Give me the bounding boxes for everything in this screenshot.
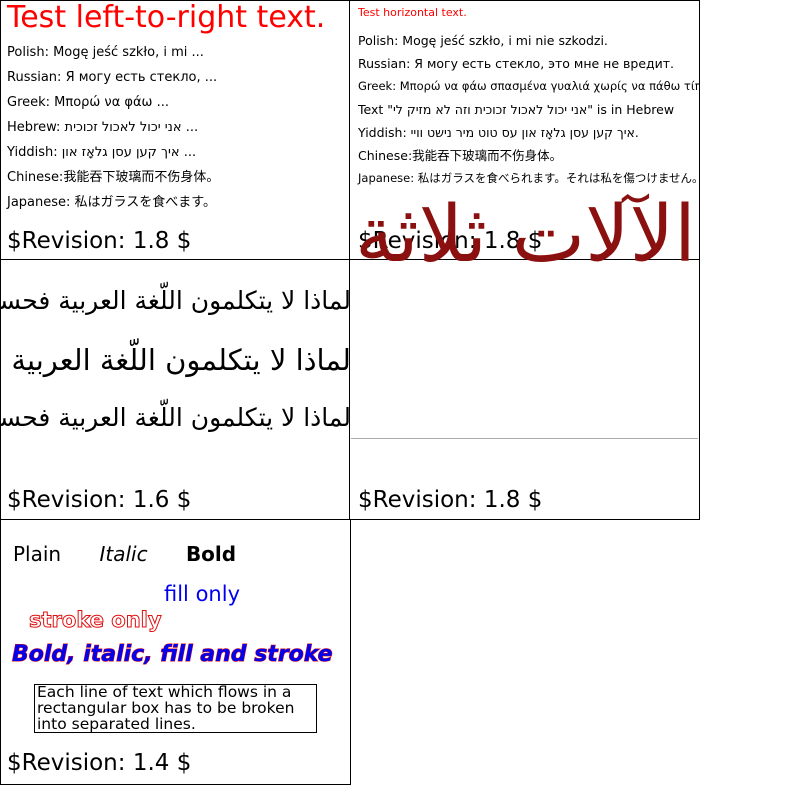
panel-text-styles-clip: Plain Italic Bold fill only stroke only … xyxy=(1,520,350,784)
style-italic-label: Italic xyxy=(99,542,147,566)
panel-left-to-right-text: Test left-to-right text. Polish: Mogę je… xyxy=(0,0,350,260)
horizontal-line-greek: Greek: Μπορώ να φάω σπασμένα γυαλιά χωρί… xyxy=(358,75,699,98)
style-bold-label: Bold xyxy=(186,542,236,566)
panel-text-styles: Plain Italic Bold fill only stroke only … xyxy=(0,519,351,785)
ltr-line-hebrew: Hebrew: ‏אני יכול לאכול זכוכית‎ ... xyxy=(7,115,219,140)
panel-left-to-right-clip: Test left-to-right text. Polish: Mogę je… xyxy=(1,1,349,259)
horizontal-line-hebrew: Text "‏אני יכול לאכול זכוכית וזה לא מזיק… xyxy=(358,98,699,121)
horizontal-line-russian: Russian: Я могу есть стекло, это мне не … xyxy=(358,52,699,75)
ltr-line-russian: Russian: Я могу есть стекло, ... xyxy=(7,65,219,90)
horizontal-title: Test horizontal text. xyxy=(358,7,467,18)
panel-arabic-clip: لماذا لا يتكلمون اللّغة العربية فحسب؟ لم… xyxy=(1,260,349,519)
baseline-rule xyxy=(351,438,698,439)
arabic-line-3: لماذا لا يتكلمون اللّغة العربية فحسب؟ xyxy=(1,403,349,432)
ltr-line-yiddish: Yiddish: ‏איך קען עסן גלאָז און‎ ... xyxy=(7,140,219,165)
panel-big-arabic-text: الآلات ثلاثة $Revision: 1.8 $ xyxy=(349,259,700,520)
arabic-revision: $Revision: 1.6 $ xyxy=(7,487,191,513)
horizontal-line-polish: Polish: Mogę jeść szkło, i mi nie szkodz… xyxy=(358,29,699,52)
flowed-text-content: Each line of text which flows in a recta… xyxy=(37,684,327,732)
ltr-line-polish: Polish: Mogę jeść szkło, i mi ... xyxy=(7,40,219,65)
ltr-language-list: Polish: Mogę jeść szkło, i mi ... Russia… xyxy=(7,40,219,215)
horizontal-line-chinese: Chinese:我能吞下玻璃而不伤身体。 xyxy=(358,144,699,167)
style-combined-label: Bold, italic, fill and stroke xyxy=(12,642,333,667)
style-plain-label: Plain xyxy=(13,542,61,566)
ltr-title: Test left-to-right text. xyxy=(7,3,325,33)
svg-text-test-page: Test left-to-right text. Polish: Mogę je… xyxy=(0,0,800,800)
style-fill-only-label: fill only xyxy=(164,582,240,606)
horizontal-line-yiddish: Yiddish: ‏איך קען עסן גלאָז און עס טוט מ… xyxy=(358,121,699,144)
ltr-revision: $Revision: 1.8 $ xyxy=(7,228,191,254)
horizontal-line-japanese: Japanese: 私はガラスを食べられます。それは私を傷つけません。 xyxy=(358,167,699,190)
panel-arabic-text: لماذا لا يتكلمون اللّغة العربية فحسب؟ لم… xyxy=(0,259,350,520)
arabic-line-1: لماذا لا يتكلمون اللّغة العربية فحسب؟ xyxy=(1,286,349,315)
style-row-plain-italic-bold: Plain Italic Bold xyxy=(13,542,236,566)
arabic-line-group: لماذا لا يتكلمون اللّغة العربية فحسب؟ لم… xyxy=(1,260,349,519)
big-arabic-revision: $Revision: 1.8 $ xyxy=(358,487,542,513)
big-arabic-text: الآلات ثلاثة xyxy=(350,194,701,454)
styles-revision: $Revision: 1.4 $ xyxy=(7,750,191,776)
ltr-line-greek: Greek: Μπορώ να φάω ... xyxy=(7,90,219,115)
ltr-line-chinese: Chinese:我能吞下玻璃而不伤身体。 xyxy=(7,165,219,190)
arabic-line-2: لماذا لا يتكلمون اللّغة العربية فحسب؟ xyxy=(1,343,349,377)
style-stroke-only-label: stroke only xyxy=(29,608,162,632)
horizontal-language-list: Polish: Mogę jeść szkło, i mi nie szkodz… xyxy=(358,29,699,190)
ltr-line-japanese: Japanese: 私はガラスを食べます。 xyxy=(7,190,219,215)
